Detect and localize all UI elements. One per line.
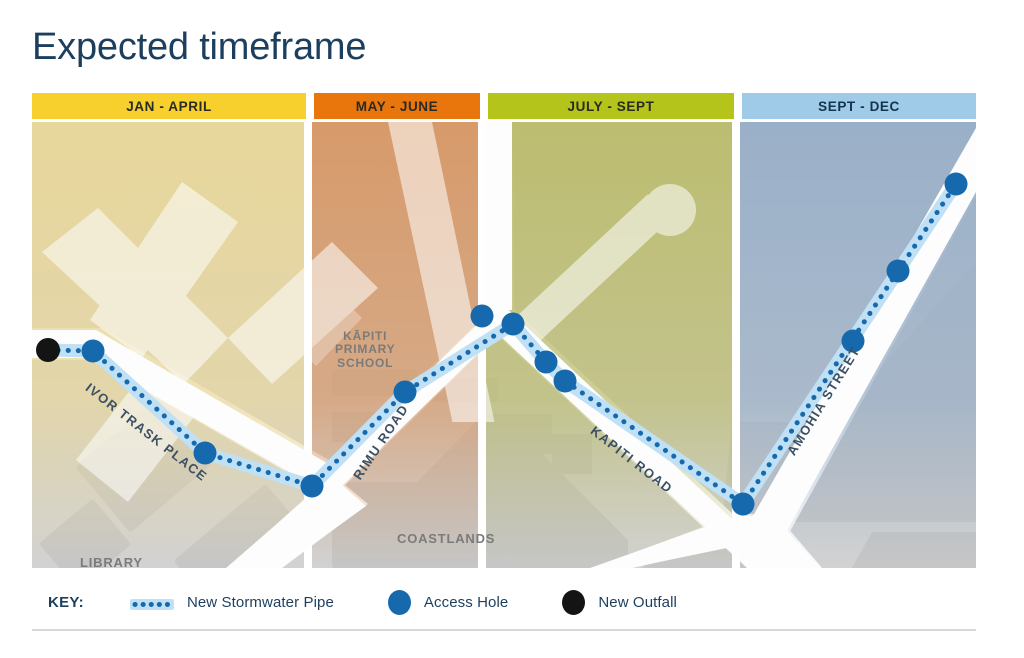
page-title: Expected timeframe <box>32 26 366 69</box>
map-label-library: LIBRARY <box>80 556 143 568</box>
access-hole[interactable] <box>301 475 324 498</box>
dotted-line-icon <box>130 597 174 608</box>
new-outfall-icon <box>562 590 585 615</box>
access-hole[interactable] <box>554 370 577 393</box>
timeline-band-label: JULY - SEPT <box>568 99 655 114</box>
access-hole-icon <box>388 590 411 615</box>
timeline-band-row: JAN - APRIL MAY - JUNE JULY - SEPT SEPT … <box>32 93 976 119</box>
bottom-divider <box>32 629 976 631</box>
legend-item-label: Access Hole <box>424 594 508 611</box>
legend-key-label: KEY: <box>48 594 84 611</box>
legend-item-label: New Stormwater Pipe <box>187 594 334 611</box>
timeline-band-july-sept[interactable]: JULY - SEPT <box>488 93 734 119</box>
new-outfall[interactable] <box>36 338 60 362</box>
access-hole[interactable] <box>502 313 525 336</box>
legend-item-label: New Outfall <box>598 594 677 611</box>
map-label-coastlands: COASTLANDS <box>397 532 495 547</box>
timeline-band-label: JAN - APRIL <box>126 99 212 114</box>
map-canvas <box>32 122 976 568</box>
map-label-kapiti-primary-school: KĀPITI PRIMARY SCHOOL <box>335 330 396 370</box>
timeline-band-may-june[interactable]: MAY - JUNE <box>314 93 480 119</box>
access-hole[interactable] <box>945 173 968 196</box>
access-hole[interactable] <box>82 340 105 363</box>
legend: KEY: New Stormwater Pipe Access Hole New… <box>32 583 976 621</box>
access-hole[interactable] <box>887 260 910 283</box>
project-map[interactable]: LIBRARY COUNCIL BUILDINGS KĀPITI PRIMARY… <box>32 122 976 568</box>
timeline-band-jan-april[interactable]: JAN - APRIL <box>32 93 306 119</box>
access-hole[interactable] <box>535 351 558 374</box>
timeline-band-sept-dec[interactable]: SEPT - DEC <box>742 93 976 119</box>
access-hole[interactable] <box>732 493 755 516</box>
legend-item-new-outfall[interactable]: New Outfall <box>562 590 677 615</box>
legend-item-new-stormwater-pipe[interactable]: New Stormwater Pipe <box>130 594 334 611</box>
access-hole[interactable] <box>394 381 417 404</box>
legend-item-access-hole[interactable]: Access Hole <box>388 590 508 615</box>
timeline-band-label: SEPT - DEC <box>818 99 900 114</box>
timeline-band-label: MAY - JUNE <box>356 99 439 114</box>
timeframe-infographic: Expected timeframe JAN - APRIL MAY - JUN… <box>0 0 1024 658</box>
access-hole[interactable] <box>471 305 494 328</box>
